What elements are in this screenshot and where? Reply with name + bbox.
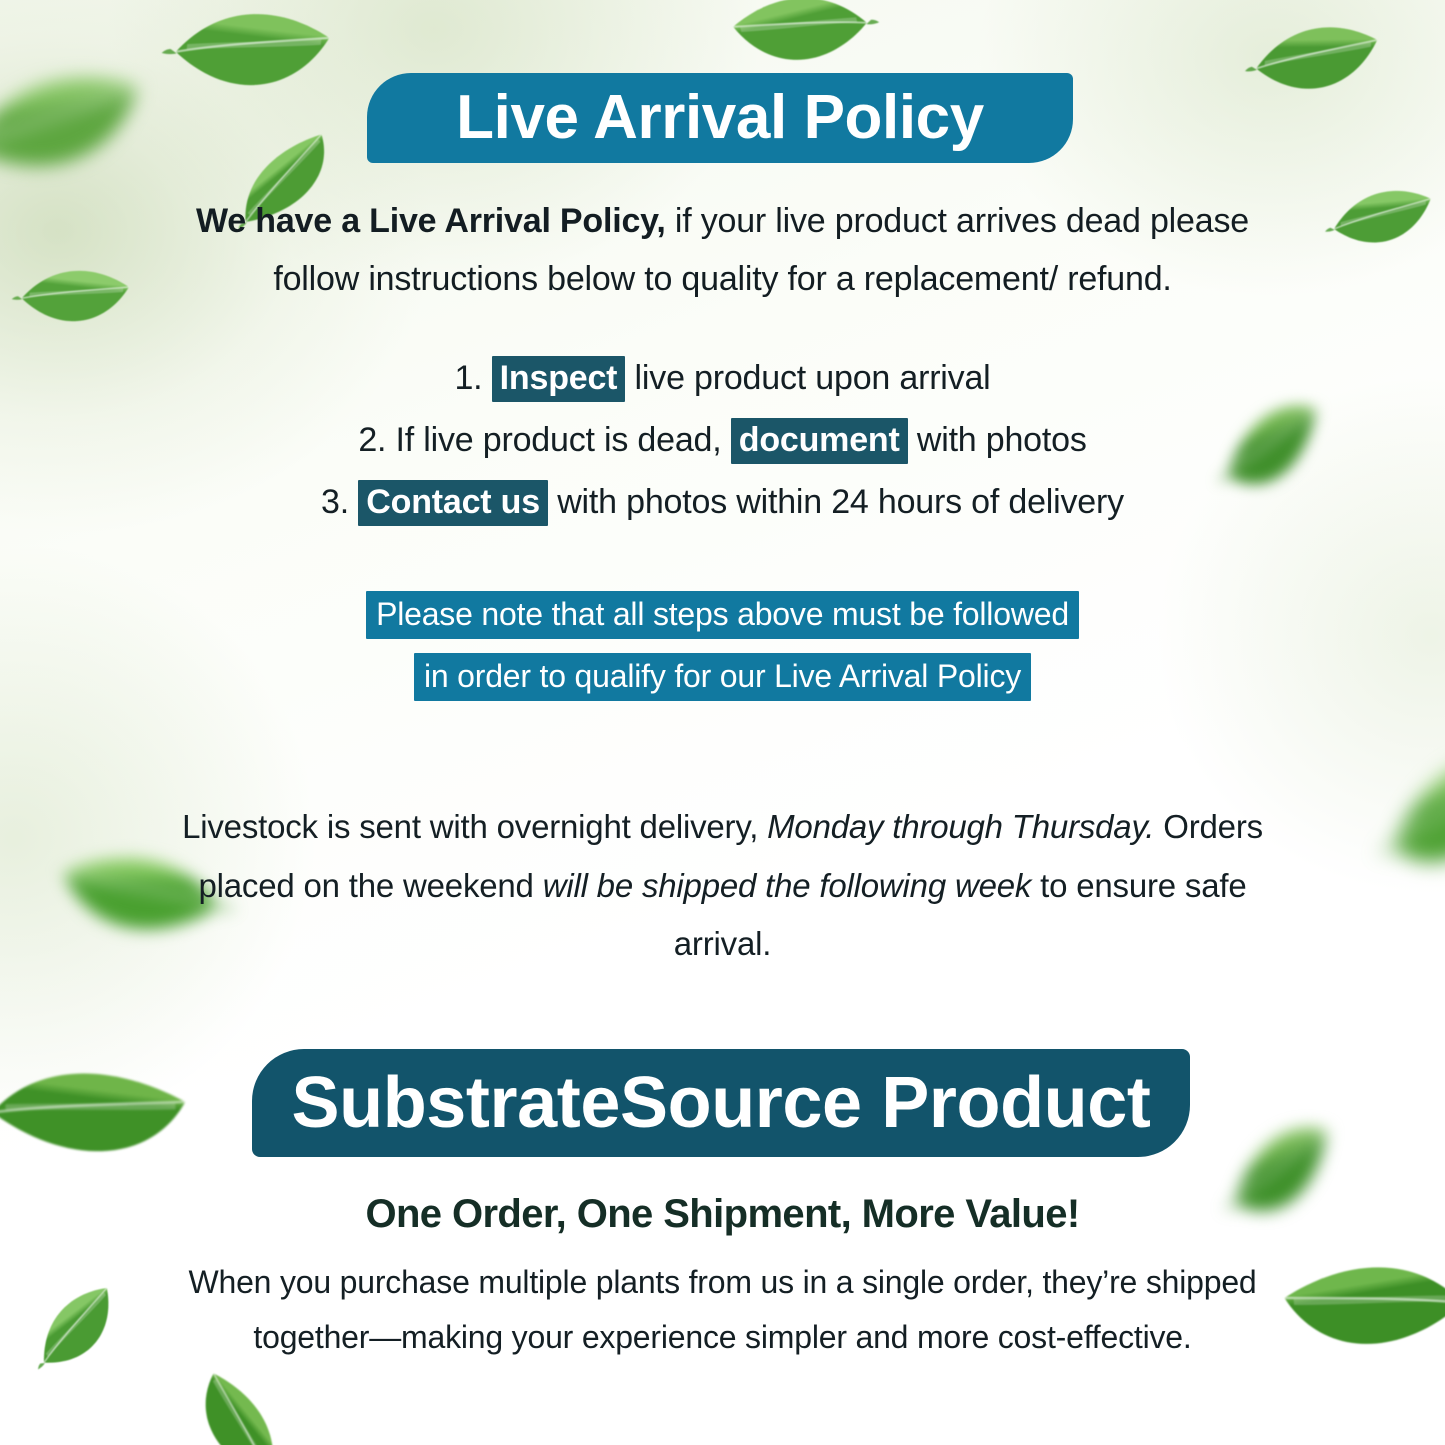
substrate-source-subheading: One Order, One Shipment, More Value!: [160, 1192, 1285, 1237]
intro-paragraph: We have a Live Arrival Policy, if your l…: [160, 192, 1285, 309]
step-number: 3.: [321, 483, 349, 521]
step-post-text: with photos within 24 hours of delivery: [548, 483, 1124, 521]
livestock-italic-2: will be shipped the following week: [543, 867, 1032, 904]
livestock-text-1: Livestock is sent with overnight deliver…: [182, 808, 767, 845]
intro-bold-text: We have a Live Arrival Policy,: [196, 202, 666, 240]
note-line-2-wrapper: in order to qualify for our Live Arrival…: [160, 645, 1285, 707]
live-arrival-policy-title: Live Arrival Policy: [456, 87, 984, 149]
policy-steps-list: 1. Inspect live product upon arrival 2. …: [160, 348, 1285, 534]
list-item: 1. Inspect live product upon arrival: [160, 348, 1285, 410]
policy-note-block: Please note that all steps above must be…: [160, 583, 1285, 708]
substrate-source-product-banner: SubstrateSource Product: [252, 1049, 1190, 1157]
substrate-source-body-text: When you purchase multiple plants from u…: [150, 1255, 1295, 1365]
note-line-2: in order to qualify for our Live Arrival…: [414, 653, 1031, 701]
step-highlight-document: document: [731, 418, 908, 464]
page-content: Live Arrival Policy We have a Live Arriv…: [0, 0, 1445, 1445]
live-arrival-policy-page: Live Arrival Policy We have a Live Arriv…: [0, 0, 1445, 1445]
note-line-1: Please note that all steps above must be…: [366, 591, 1079, 639]
substrate-source-product-title: SubstrateSource Product: [292, 1067, 1151, 1139]
step-number: 2.: [358, 421, 386, 459]
step-pre-text: If live product is dead,: [386, 421, 730, 459]
step-highlight-inspect: Inspect: [492, 356, 626, 402]
step-highlight-contact-us: Contact us: [358, 480, 548, 526]
note-line-1-wrapper: Please note that all steps above must be…: [160, 583, 1285, 645]
step-pre-text: [349, 483, 358, 521]
step-post-text: live product upon arrival: [625, 359, 990, 397]
livestock-shipping-paragraph: Livestock is sent with overnight deliver…: [160, 798, 1285, 974]
list-item: 3. Contact us with photos within 24 hour…: [160, 472, 1285, 534]
live-arrival-policy-banner: Live Arrival Policy: [367, 73, 1073, 163]
livestock-italic-1: Monday through Thursday.: [767, 808, 1154, 845]
step-number: 1.: [454, 359, 482, 397]
list-item: 2. If live product is dead, document wit…: [160, 410, 1285, 472]
step-post-text: with photos: [908, 421, 1087, 459]
